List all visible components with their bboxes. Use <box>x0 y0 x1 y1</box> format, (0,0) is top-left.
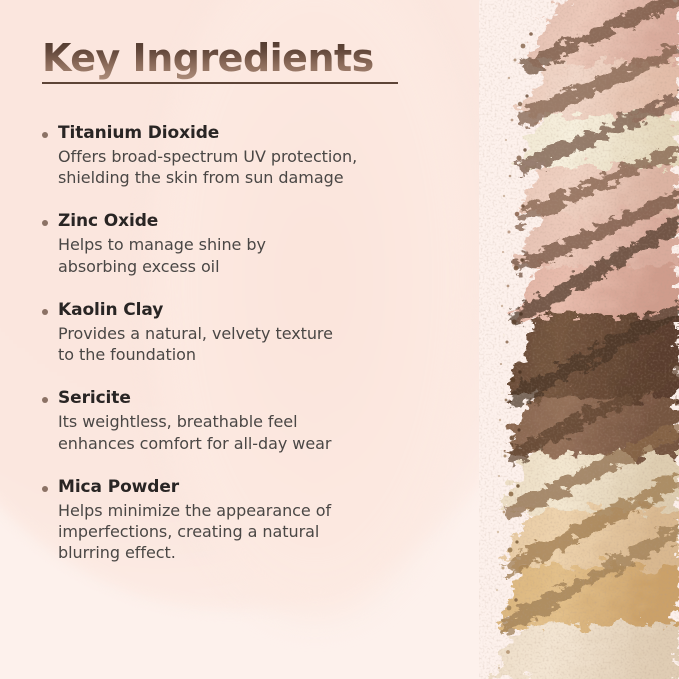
ingredient-name: Zinc Oxide <box>58 210 450 233</box>
ingredient-infographic: Key Ingredients Titanium Dioxide Offers … <box>0 0 679 679</box>
ingredient-description: Its weightless, breathable feel enhances… <box>58 411 450 454</box>
ingredient-name: Titanium Dioxide <box>58 122 450 145</box>
ingredient-name: Kaolin Clay <box>58 299 450 322</box>
list-item: Kaolin Clay Provides a natural, velvety … <box>40 299 450 365</box>
powder-swatch-image <box>479 0 679 679</box>
list-item: Sericite Its weightless, breathable feel… <box>40 387 450 453</box>
title-underline <box>42 82 398 84</box>
ingredient-description: Helps to manage shine by absorbing exces… <box>58 234 450 277</box>
list-item: Titanium Dioxide Offers broad-spectrum U… <box>40 122 450 188</box>
page-title: Key Ingredients <box>42 38 442 80</box>
bullet-dot-icon <box>42 486 48 492</box>
bullet-dot-icon <box>42 397 48 403</box>
bullet-dot-icon <box>42 220 48 226</box>
text-column: Key Ingredients Titanium Dioxide Offers … <box>0 0 470 679</box>
bullet-dot-icon <box>42 132 48 138</box>
list-item: Zinc Oxide Helps to manage shine by abso… <box>40 210 450 276</box>
ingredients-list: Titanium Dioxide Offers broad-spectrum U… <box>40 122 450 564</box>
ingredient-name: Sericite <box>58 387 450 410</box>
ingredient-description: Offers broad-spectrum UV protection, shi… <box>58 146 450 189</box>
ingredient-description: Provides a natural, velvety texture to t… <box>58 323 450 366</box>
list-item: Mica Powder Helps minimize the appearanc… <box>40 476 450 564</box>
bullet-dot-icon <box>42 309 48 315</box>
ingredient-description: Helps minimize the appearance of imperfe… <box>58 500 450 564</box>
page-title-block: Key Ingredients <box>42 38 442 84</box>
ingredient-name: Mica Powder <box>58 476 450 499</box>
